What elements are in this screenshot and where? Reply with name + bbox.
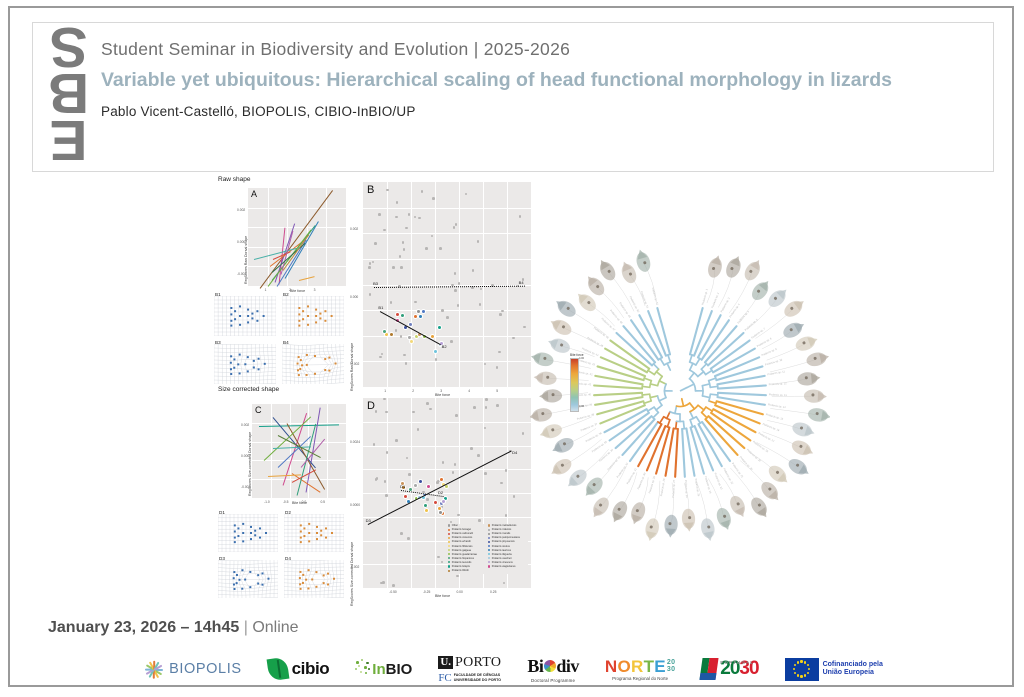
scatter-point: [421, 190, 424, 193]
lizard-head-thumbnail: [723, 254, 744, 280]
tree-tip-label: Podarcis sp. 2: [710, 291, 720, 308]
landmark-point: [306, 364, 308, 366]
deformation-grid-canvas: [282, 296, 344, 336]
landmark-point: [299, 368, 301, 370]
landmark-point: [238, 579, 240, 581]
scatter-point: [414, 216, 417, 219]
portugal-flag-icon: [700, 658, 719, 680]
biodiv-subtitle: Doctoral Programme: [531, 678, 575, 683]
legend-item: Podarcis tauricus: [488, 549, 511, 552]
scatter-point: [383, 398, 386, 401]
landmark-point: [258, 368, 260, 370]
page-title: Variable yet ubiquitous: Hierarchical sc…: [101, 68, 979, 94]
landmark-point: [315, 315, 317, 317]
landmark-point: [303, 535, 305, 537]
scatter-point: [426, 498, 429, 501]
deformation-grid-b1: [214, 296, 276, 336]
scatter-point: [417, 428, 420, 431]
scatter-point: [441, 309, 444, 312]
highlighted-species-point: [421, 309, 426, 314]
panel-a: A: [248, 188, 346, 286]
tree-tip-label: Podarcis sp. 35: [591, 439, 608, 453]
landmark-point: [257, 574, 259, 576]
deformation-grid-b4: [282, 344, 344, 384]
scatter-point: [505, 514, 508, 517]
lizard-head-thumbnail: [538, 422, 564, 441]
legend-item: Podarcis bocagei: [448, 528, 471, 531]
scatter-point: [400, 335, 403, 338]
legend-item: Podarcis muralis: [488, 532, 510, 535]
inbio-logo-text: InBIO: [372, 661, 412, 678]
deformation-grid-d1: [218, 514, 278, 552]
landmark-point: [259, 527, 261, 529]
uporto-faculty-line2: UNIVERSIDADE DO PORTO: [454, 678, 501, 683]
scatter-point: [408, 473, 411, 476]
scatter-point: [457, 304, 460, 307]
scatter-point: [375, 410, 378, 413]
sbe-logo: E B S: [41, 31, 97, 163]
tree-tip-label: Podarcis sp. 5: [736, 309, 750, 324]
landmark-point: [259, 537, 261, 539]
landmark-point: [261, 572, 263, 574]
landmark-point: [237, 363, 239, 365]
tree-tip-label: Podarcis sp. 28: [659, 478, 666, 497]
scatter-point: [503, 582, 506, 585]
legend-label: Podarcis peloponnesiaca: [492, 536, 520, 539]
lizard-head-thumbnail: [742, 257, 765, 284]
lizard-head-thumbnail: [550, 435, 576, 457]
scatter-point: [400, 266, 403, 269]
landmark-point: [236, 582, 238, 584]
landmark-point: [239, 354, 241, 356]
tree-branch: [660, 359, 664, 365]
scatter-point: [392, 266, 395, 269]
landmark-point: [308, 532, 310, 534]
header-card: E B S Student Seminar in Biodiversity an…: [32, 22, 994, 172]
tree-tip-label: Podarcis sp. 49: [618, 301, 632, 318]
landmark-point: [315, 321, 317, 323]
scatter-point: [439, 247, 442, 250]
tree-branch: [690, 363, 693, 370]
tree-tip-label: Podarcis sp. 16: [762, 422, 781, 433]
landmark-point: [324, 310, 326, 312]
y-tick-label: -0.002: [350, 565, 359, 569]
legend-item: Podarcis cretensis: [448, 536, 472, 539]
highlighted-species-point: [437, 325, 442, 330]
landmark-point: [298, 374, 300, 376]
landmark-point: [303, 527, 305, 529]
lizard-head-thumbnail: [533, 371, 557, 386]
landmark-point: [298, 356, 300, 358]
scatter-point: [470, 447, 473, 450]
scatter-point: [454, 272, 457, 275]
panel-d-letter: D: [367, 400, 375, 412]
panel-d-legend: OtherPodarcis bocageiPodarcis carbonelli…: [448, 524, 528, 574]
landmark-point: [331, 532, 333, 534]
tree-branch: [718, 385, 766, 388]
legend-swatch: [448, 553, 450, 555]
fitline-end-label: D4: [512, 450, 517, 455]
tree-tip-label: Podarcis sp. 52: [651, 287, 660, 306]
scatter-point: [480, 288, 483, 291]
bite-force-gradient: [570, 358, 579, 412]
tree-branch: [648, 370, 654, 374]
tree-branch: [650, 396, 657, 398]
landmark-point: [301, 364, 303, 366]
x-tick-label: 1: [265, 288, 267, 292]
lizard-head-thumbnail: [794, 333, 820, 353]
legend-label: Podarcis virescens: [492, 561, 513, 564]
scatter-point: [369, 293, 372, 296]
landmark-point: [320, 534, 322, 536]
scatter-point: [441, 561, 444, 564]
scatter-point: [405, 362, 408, 365]
landmark-point: [311, 578, 313, 580]
landmark-point: [265, 532, 267, 534]
landmark-point: [230, 362, 232, 364]
landmark-point: [230, 355, 232, 357]
scatter-point: [458, 282, 461, 285]
biodiv-div: div: [556, 656, 579, 677]
landmark-point: [308, 569, 310, 571]
landmark-point: [300, 524, 302, 526]
uporto-faculty-line1: FACULDADE DE CIÊNCIAS: [454, 673, 501, 678]
legend-swatch: [488, 537, 490, 539]
landmark-point: [233, 367, 235, 369]
highlighted-species-point: [424, 508, 429, 513]
event-mode: Online: [252, 619, 298, 636]
tree-branch: [667, 420, 669, 427]
highlighted-species-point: [433, 349, 438, 354]
footer-separator: |: [244, 619, 248, 636]
legend-label: Podarcis carbonelli: [452, 532, 473, 535]
highlighted-species-point: [389, 332, 394, 337]
landmark-point: [264, 363, 266, 365]
legend-item: Podarcis filfolensis: [448, 545, 472, 548]
tree-branch: [667, 363, 670, 370]
tree-branch: [644, 378, 651, 381]
tree-branch: [594, 385, 642, 388]
landmark-point: [300, 588, 302, 590]
landmark-point: [300, 359, 302, 361]
landmark-point: [247, 356, 249, 358]
tree-tip-label: Podarcis sp. 8: [756, 336, 773, 348]
tree-branch: [690, 412, 693, 419]
landmark-point: [239, 372, 241, 374]
lizard-head-thumbnail: [727, 493, 749, 519]
legend-item: Podarcis levendis: [448, 561, 471, 564]
y-tick-label: -0.002: [237, 272, 246, 276]
bite-force-min: 0.00: [579, 405, 584, 408]
tree-branch: [659, 398, 666, 401]
landmark-point: [328, 370, 330, 372]
phylogeny-figure: Podarcis sp. 1Podarcis sp. 2Podarcis sp.…: [530, 183, 830, 598]
eu-funding-line2: União Europeia: [823, 669, 883, 678]
tree-branch: [696, 417, 700, 423]
tree-tip-label: Podarcis sp. 51: [640, 291, 651, 310]
x-tick-label: 0.5: [320, 500, 325, 504]
panel-c-letter: C: [255, 405, 262, 415]
scatter-point: [426, 402, 429, 405]
snowflake-icon: [143, 658, 165, 680]
tree-branch: [682, 429, 685, 477]
landmark-point: [247, 370, 249, 372]
landmark-point: [251, 313, 253, 315]
tree-branch: [709, 378, 716, 381]
scatter-point: [414, 301, 417, 304]
highlighted-species-point: [403, 494, 408, 499]
landmark-point: [239, 324, 241, 326]
landmark-point: [308, 540, 310, 542]
landmark-point: [300, 537, 302, 539]
y-tick-label: 0.000: [350, 295, 358, 299]
landmark-point: [233, 571, 235, 573]
sparkle-icon: [355, 659, 371, 679]
tree-branch: [698, 405, 704, 410]
legend-label: Podarcis hispanicus: [452, 557, 474, 560]
landmark-point: [302, 582, 304, 584]
landmark-point: [297, 363, 299, 365]
landmark-point: [324, 320, 326, 322]
landmark-point: [256, 310, 258, 312]
deformation-grid-canvas: [282, 344, 344, 384]
scatter-point: [519, 215, 522, 218]
scatter-point: [496, 404, 499, 407]
legend-item: Podarcis melisellensis: [488, 524, 516, 527]
legend-swatch: [448, 524, 450, 526]
tree-branch: [660, 417, 664, 423]
landmark-point: [236, 574, 238, 576]
panel-a-xlabel: Bite force: [290, 289, 305, 293]
panel-b-ylabel: RegScores Raw Dorsal shape: [350, 343, 354, 391]
landmark-point: [250, 532, 252, 534]
lizard-head-thumbnail: [628, 500, 648, 526]
tree-branch: [706, 370, 712, 374]
landmark-point: [306, 354, 308, 356]
tree-branch: [710, 386, 717, 387]
y-tick-label: -0.002: [241, 485, 250, 489]
landmark-point: [251, 317, 253, 319]
deformation-grid-b3: [214, 344, 276, 384]
landmark-point: [335, 363, 337, 365]
legend-item: Podarcis pityusensis: [488, 540, 515, 543]
landmark-point: [247, 309, 249, 311]
scatter-point: [452, 471, 455, 474]
legend-item: Podarcis vaucheri: [488, 557, 512, 560]
x-tick-label: 3: [314, 288, 316, 292]
scatter-point: [399, 255, 402, 258]
landmark-point: [331, 315, 333, 317]
tree-branch: [648, 407, 654, 411]
landmark-point: [230, 368, 232, 370]
y-tick-label: 0.002: [350, 227, 358, 231]
tree-tip-label: Podarcis sp. 36: [585, 431, 603, 443]
landmark-point: [237, 535, 239, 537]
landmark-point: [307, 305, 309, 307]
landmark-point: [327, 583, 329, 585]
legend-item: Podarcis milensis: [488, 528, 511, 531]
uporto-wordmark: PORTO: [455, 655, 501, 671]
y-tick-label: 0.002: [241, 423, 249, 427]
landmark-point: [253, 360, 255, 362]
lizard-head-thumbnail: [714, 506, 734, 532]
legend-swatch: [448, 549, 450, 551]
x-tick-label: -0.50: [389, 590, 397, 594]
tree-root: [680, 387, 687, 391]
legend-item: Podarcis carbonelli: [448, 532, 473, 535]
tree-tip-label: Podarcis sp. 23: [713, 472, 724, 491]
lizard-head-thumbnail: [548, 456, 574, 480]
landmark-point: [239, 315, 241, 317]
deformation-grid-d4: [284, 560, 344, 598]
legend-label: Podarcis melisellensis: [492, 524, 517, 527]
legend-label: Podarcis milensis: [492, 528, 511, 531]
scatter-point: [390, 301, 393, 304]
scatter-point: [499, 313, 502, 316]
legend-label: Podarcis erhardii: [452, 540, 471, 543]
highlighted-species-point: [382, 329, 387, 334]
deformation-grid-d4-label: D4: [285, 556, 291, 561]
landmark-point: [234, 524, 236, 526]
landmark-point: [254, 534, 256, 536]
scatter-point: [442, 461, 445, 464]
scatter-point: [454, 463, 457, 466]
scatter-point: [478, 519, 481, 522]
legend-label: Podarcis tiliguerta: [492, 553, 512, 556]
landmark-point: [307, 324, 309, 326]
lizard-head-thumbnail: [791, 420, 817, 439]
legend-label: Podarcis tauricus: [492, 549, 511, 552]
scatter-point: [498, 351, 501, 354]
fitline-start-label: D3: [366, 518, 371, 523]
landmark-point: [253, 366, 255, 368]
eu-flag-icon: [785, 658, 819, 681]
x-tick-label: 0.0: [302, 500, 307, 504]
lizard-head-thumbnail: [664, 514, 679, 538]
figure-group-title-size-corrected: Size corrected shape: [218, 386, 279, 393]
deformation-grid-b4-label: B4: [283, 340, 289, 345]
scatter-point: [369, 262, 372, 265]
scatter-point: [513, 495, 516, 498]
scatter-point: [395, 216, 398, 219]
legend-item: Podarcis peloponnesiaca: [488, 536, 520, 539]
legend-swatch: [448, 541, 450, 543]
scatter-point: [402, 241, 405, 244]
tree-tip-label: Podarcis sp. 26: [684, 480, 689, 499]
tree-tip-label: Podarcis sp. 12: [769, 381, 788, 386]
legend-label: Other: [452, 524, 458, 527]
figure-group-title-raw: Raw shape: [218, 176, 251, 183]
refline-end-label: D2: [438, 490, 443, 495]
tree-branch: [701, 364, 706, 369]
scatter-point: [384, 480, 387, 483]
landmark-point: [319, 313, 321, 315]
scatter-point: [472, 269, 475, 272]
scatter-point: [368, 266, 371, 269]
scatter-point: [408, 213, 411, 216]
highlighted-species-point: [423, 503, 428, 508]
highlighted-species-point: [400, 313, 405, 318]
scatter-point: [392, 584, 395, 587]
landmark-point: [315, 586, 317, 588]
scatter-point: [465, 193, 468, 196]
colorwheel-icon: [544, 660, 556, 672]
landmark-point: [234, 318, 236, 320]
event-date: January 23, 2026 – 14h45: [48, 619, 239, 636]
scatter-point: [395, 329, 398, 332]
x-tick-label: -1.0: [264, 500, 270, 504]
y-tick-label: 0.0000: [350, 503, 360, 507]
tree-tip-label: Podarcis sp. 46: [593, 326, 610, 340]
uporto-fc-monogram: FC: [438, 672, 451, 684]
landmark-point: [298, 313, 300, 315]
tree-tip-label: Podarcis sp. 18: [752, 440, 769, 454]
landmark-point: [249, 571, 251, 573]
panel-b: B B3B4B1B2: [363, 182, 531, 387]
landmark-point: [302, 574, 304, 576]
scatter-point: [403, 354, 406, 357]
scatter-point: [453, 226, 456, 229]
scatter-point: [450, 340, 453, 343]
deformation-grid-d2: [284, 514, 344, 552]
tree-tip-label: Podarcis sp. 22: [722, 467, 734, 485]
scatter-point: [437, 556, 440, 559]
scatter-point: [512, 337, 515, 340]
tree-tip-label: Podarcis sp. 34: [598, 447, 614, 462]
biodiv-i: i: [539, 656, 544, 677]
tree-branch: [675, 406, 677, 413]
norte2030-logo: NORTE 20 30 Programa Regional do Norte: [605, 649, 675, 689]
tree-branch: [668, 355, 670, 362]
landmark-point: [247, 321, 249, 323]
landmark-point: [308, 523, 310, 525]
y-tick-label: 0.000: [237, 240, 245, 244]
scatter-point: [405, 227, 408, 230]
tree-tip-label: Podarcis sp. 1: [701, 288, 709, 305]
panel-d-xlabel: Bite force: [435, 594, 450, 598]
landmark-point: [305, 579, 307, 581]
legend-swatch: [448, 529, 450, 531]
legend-swatch: [488, 545, 490, 547]
landmark-point: [234, 541, 236, 543]
landmark-point: [230, 320, 232, 322]
x-tick-label: 3: [440, 389, 442, 393]
scatter-point: [373, 443, 376, 446]
landmark-point: [319, 317, 321, 319]
deformation-grid-b2: [282, 296, 344, 336]
scatter-point: [403, 248, 406, 251]
lizard-head-thumbnail: [608, 499, 630, 525]
landmark-point: [247, 315, 249, 317]
legend-swatch: [488, 533, 490, 535]
legend-label: Podarcis muralis: [492, 532, 510, 535]
deformation-grid-canvas: [214, 344, 276, 384]
legend-label: Podarcis pityusensis: [492, 540, 515, 543]
lizard-head-thumbnail: [530, 350, 555, 368]
scatter-point: [386, 451, 389, 454]
lizard-head-thumbnail: [789, 438, 815, 460]
scatter-point: [523, 326, 526, 329]
lizard-head-thumbnail: [539, 389, 562, 403]
landmark-point: [241, 569, 243, 571]
legend-swatch: [448, 533, 450, 535]
legend-swatch: [448, 561, 450, 563]
landmark-point: [328, 357, 330, 359]
tree-tip-label: Podarcis sp. 45: [586, 336, 604, 349]
legend-item: Podarcis erhardii: [448, 540, 471, 543]
slide-frame: E B S Student Seminar in Biodiversity an…: [8, 6, 1014, 687]
portugal-label: PORTUGAL: [720, 660, 754, 665]
